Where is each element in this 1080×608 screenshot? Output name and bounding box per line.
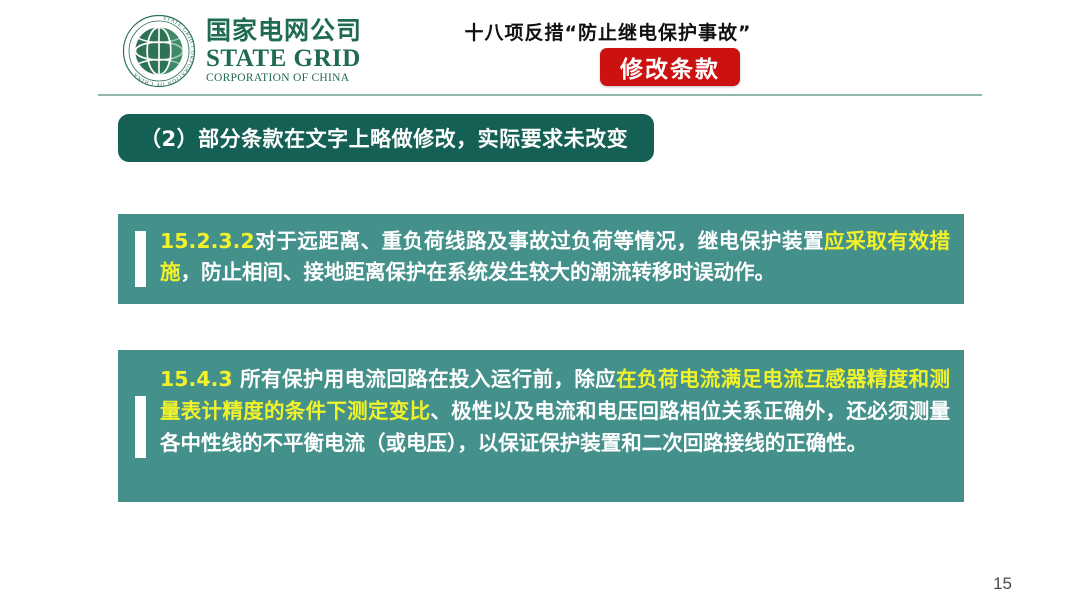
slide-root: STATE GRID CORPORATION OF CHINA 国家电网公司 S…	[0, 0, 1080, 608]
page-title: 十八项反措“防止继电保护事故”	[0, 18, 1080, 45]
status-badge: 修改条款	[600, 48, 740, 86]
clause-card-15-4-3: 15.4.3 所有保护用电流回路在投入运行前，除应在负荷电流满足电流互感器精度和…	[118, 350, 964, 502]
clause-card-15-2-3-2: 15.2.3.2对于远距离、重负荷线路及事故过负荷等情况，继电保护装置应采取有效…	[118, 214, 964, 304]
section-heading-label: （2）部分条款在文字上略做修改，实际要求未改变	[140, 123, 628, 153]
plain-text-run: ，防止相间、接地距离保护在系统发生较大的潮流转移时误动作。	[181, 260, 776, 284]
plain-text-run: 所有保护用电流回路在投入运行前，除应	[233, 367, 617, 391]
section-heading-pill: （2）部分条款在文字上略做修改，实际要求未改变	[118, 114, 654, 162]
highlighted-text-run: 15.2.3.2	[160, 229, 255, 253]
clause-text: 15.2.3.2对于远距离、重负荷线路及事故过负荷等情况，继电保护装置应采取有效…	[160, 214, 950, 288]
plain-text-run: 对于远距离、重负荷线路及事故过负荷等情况，继电保护装置	[255, 229, 824, 253]
clause-accent-bar	[135, 231, 146, 287]
clause-text: 15.4.3 所有保护用电流回路在投入运行前，除应在负荷电流满足电流互感器精度和…	[160, 350, 950, 459]
page-number: 15	[993, 574, 1012, 594]
slide-header: STATE GRID CORPORATION OF CHINA 国家电网公司 S…	[0, 0, 1080, 96]
header-divider	[98, 94, 982, 96]
clause-accent-bar	[135, 396, 146, 458]
highlighted-text-run: 15.4.3	[160, 367, 233, 391]
status-badge-label: 修改条款	[620, 50, 720, 84]
logo-company-en-primary: STATE GRID	[206, 46, 362, 71]
page-title-text: 十八项反措“防止继电保护事故”	[465, 22, 752, 44]
logo-company-en-secondary: CORPORATION OF CHINA	[206, 73, 362, 85]
